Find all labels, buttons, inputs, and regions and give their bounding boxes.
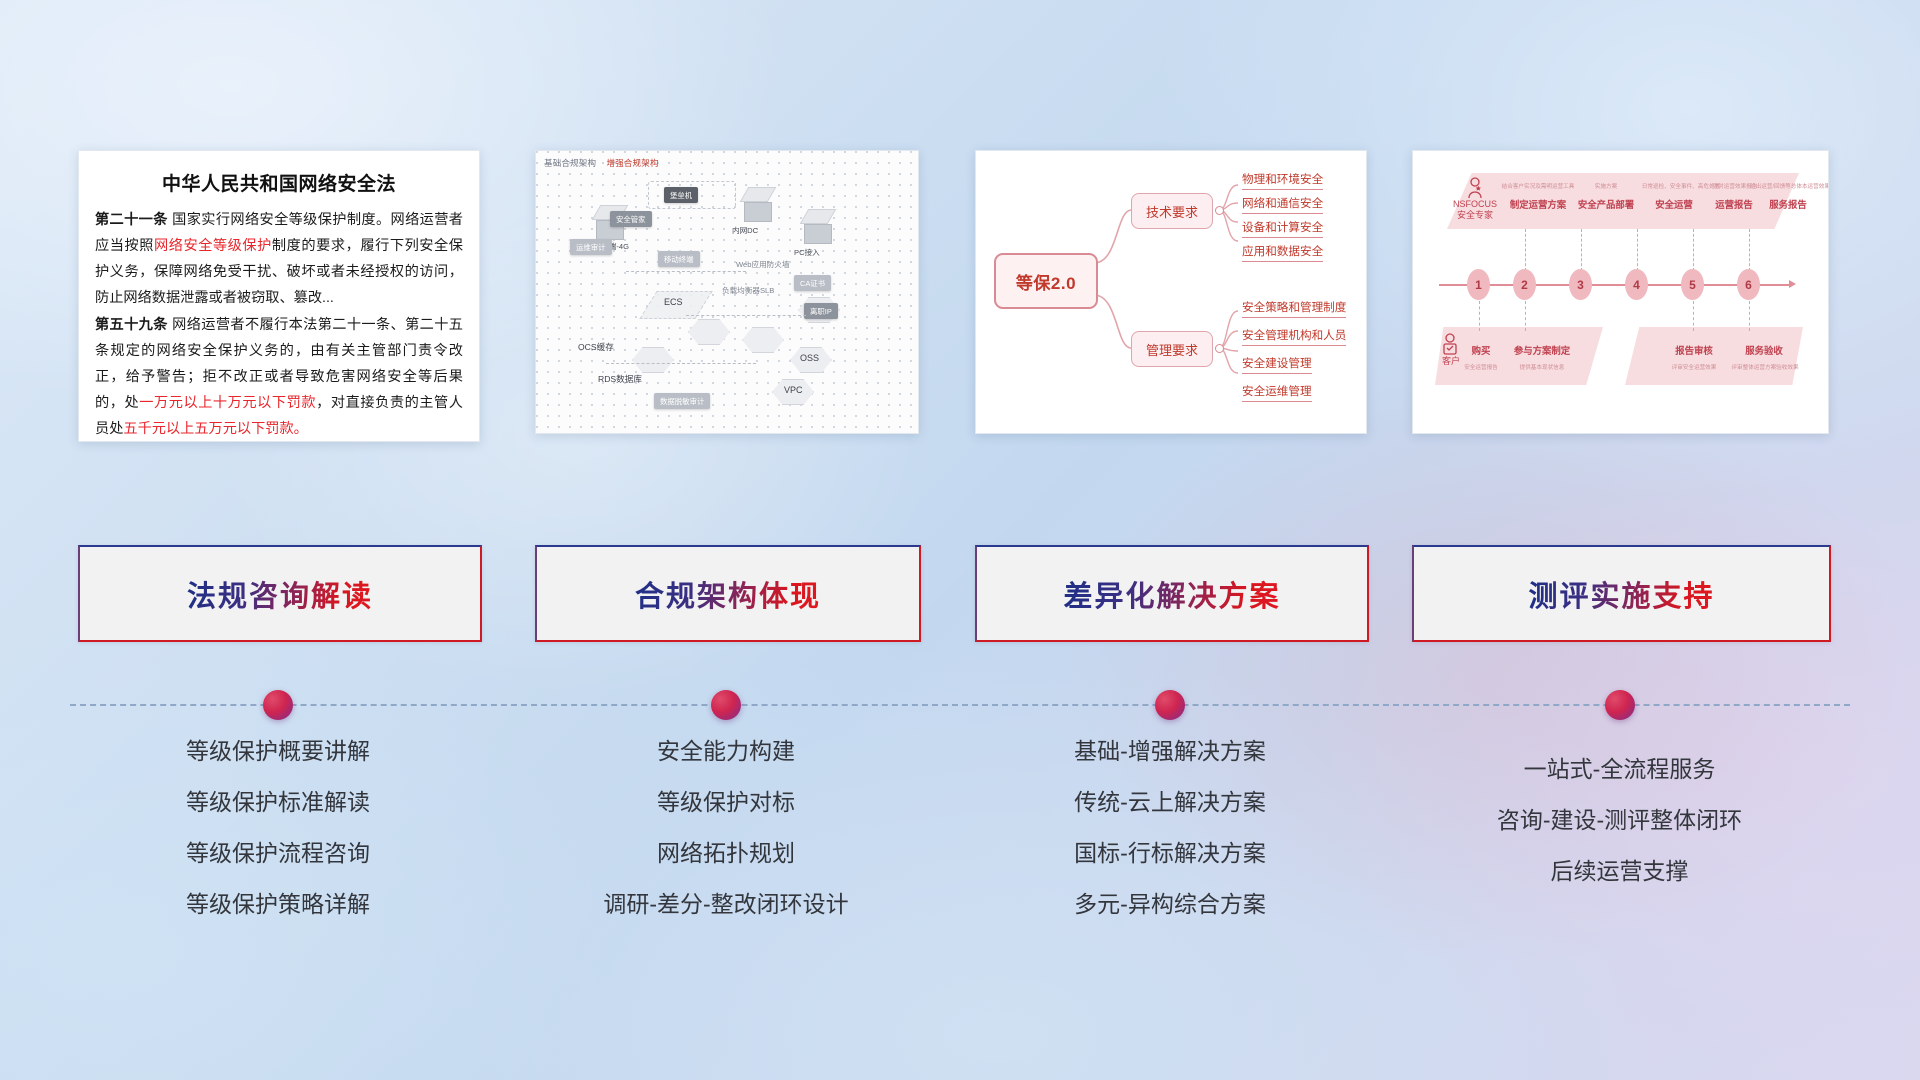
mindmap-branch-management[interactable]: 管理要求 [1131, 331, 1213, 367]
list-item: 基础-增强解决方案 [975, 740, 1365, 763]
list-item: 咨询-建设-测评整体闭环 [1412, 809, 1827, 832]
list-item: 安全能力构建 [535, 740, 917, 763]
mindmap-leaf-t1: 物理和环境安全 [1242, 171, 1323, 190]
list-item: 传统-云上解决方案 [975, 791, 1365, 814]
arch-label-intranet-dc: 内网DC [732, 225, 758, 236]
nsfocus-top-label-6: 服务报告 [1755, 197, 1821, 211]
card-mindmap[interactable]: 等保2.0 技术要求 物理和环境安全 网络和通信安全 设备和计算安全 应用和数据… [975, 150, 1367, 434]
article-59-highlight-2: 五千元以上五万元以下罚款。 [123, 421, 307, 437]
nsfocus-top-label-4: 安全运营 [1641, 197, 1707, 211]
label-button-compliance-architecture[interactable]: 合规架构体现 [535, 545, 921, 642]
customer-person-icon [1441, 333, 1459, 355]
nsfocus-stem-2-bottom [1525, 301, 1526, 331]
nsfocus-bottom-sub-1: 安全运营报告 [1453, 363, 1509, 371]
arch-hex-a [688, 319, 730, 345]
arch-chip-bastion: 堡垒机 [664, 187, 698, 203]
law-body: 中华人民共和国网络安全法 第二十一条 国家实行网络安全等级保护制度。网络运营者应… [79, 151, 479, 441]
nsfocus-top-sub-2: 结合客户实况及需明运营工具 [1489, 182, 1587, 190]
nsfocus-step-dot-1[interactable]: 1 [1467, 269, 1490, 300]
lists-row: 等级保护概要讲解 等级保护标准解读 等级保护流程咨询 等级保护策略详解 安全能力… [0, 740, 1920, 990]
article-21-highlight: 网络安全等级保护 [154, 238, 272, 254]
arch-label-slb: 负载均衡器SLB [722, 285, 774, 296]
timeline-dot-1[interactable] [263, 690, 293, 720]
timeline-dashed-line [70, 704, 1850, 706]
list-item: 等级保护策略详解 [78, 893, 478, 916]
list-column-1: 等级保护概要讲解 等级保护标准解读 等级保护流程咨询 等级保护策略详解 [78, 740, 478, 944]
law-article-59: 第五十九条 网络运营者不履行本法第二十一条、第二十五条规定的网络安全保护义务的，… [95, 313, 463, 442]
arch-label-waf: Web应用防火墙 [736, 259, 789, 270]
nsfocus-step-dot-5[interactable]: 5 [1681, 269, 1704, 300]
arch-chip-ops-audit: 运维审计 [570, 239, 612, 255]
card-architecture-diagram[interactable]: 基础合规架构 增强合规架构 堡垒机 移动终端-4G 安全管家 运维审计 内网DC… [535, 150, 919, 434]
list-item: 多元-异构综合方案 [975, 893, 1365, 916]
nsfocus-axis-arrow [1789, 280, 1796, 288]
arch-hex-rds [632, 347, 674, 373]
card-law-text[interactable]: 中华人民共和国网络安全法 第二十一条 国家实行网络安全等级保护制度。网络运营者应… [78, 150, 480, 442]
arch-chip-leaving-ip: 离职IP [804, 303, 838, 319]
arch-chip-security-manager: 安全管家 [610, 211, 652, 227]
infographic-root: 中华人民共和国网络安全法 第二十一条 国家实行网络安全等级保护制度。网络运营者应… [0, 0, 1920, 1080]
nsfocus-stem-3 [1581, 229, 1582, 271]
arch-label-ocs: OCS缓存 [578, 341, 614, 353]
architecture-tabs: 基础合规架构 增强合规架构 [544, 157, 659, 169]
arch-chip-ca: CA证书 [794, 275, 831, 291]
mindmap-leaf-t4: 应用和数据安全 [1242, 243, 1323, 262]
nsfocus-bottom-sub-2: 提供基本现状信息 [1503, 363, 1581, 371]
nsfocus-stem-6-bottom [1749, 301, 1750, 331]
arch-chip-mobile: 移动终端 [658, 251, 700, 267]
list-item: 网络拓扑规划 [535, 842, 917, 865]
timeline-dot-3[interactable] [1155, 690, 1185, 720]
timeline-dot-4[interactable] [1605, 690, 1635, 720]
list-item: 国标-行标解决方案 [975, 842, 1365, 865]
arch-label-ecs: ECS [664, 297, 683, 307]
mindmap-canvas: 等保2.0 技术要求 物理和环境安全 网络和通信安全 设备和计算安全 应用和数据… [976, 151, 1366, 433]
label-button-differentiated-solutions[interactable]: 差异化解决方案 [975, 545, 1369, 642]
label-text-1: 法规咨询解读 [187, 573, 373, 615]
article-21-label: 第二十一条 [95, 212, 168, 228]
nsfocus-top-sub-6: 给出运营/回馈等总体本运营效果 [1743, 182, 1829, 190]
nsfocus-step-dot-4[interactable]: 4 [1625, 269, 1648, 300]
list-item: 等级保护标准解读 [78, 791, 478, 814]
nsfocus-stem-5-bottom [1693, 301, 1694, 331]
arch-node-pc [804, 209, 832, 244]
nsfocus-stem-6 [1749, 229, 1750, 271]
article-59-highlight-1: 一万元以上十万元以下罚款 [139, 395, 316, 411]
list-item: 后续运营支撑 [1412, 860, 1827, 883]
tab-enhanced-compliance[interactable]: 增强合规架构 [606, 158, 658, 168]
timeline-dot-2[interactable] [711, 690, 741, 720]
mindmap-root-node[interactable]: 等保2.0 [994, 253, 1098, 309]
architecture-canvas: 基础合规架构 增强合规架构 堡垒机 移动终端-4G 安全管家 运维审计 内网DC… [536, 151, 918, 433]
arch-hex-b [742, 327, 784, 353]
arch-label-rds: RDS数据库 [598, 373, 642, 385]
mindmap-leaf-t2: 网络和通信安全 [1242, 195, 1323, 214]
nsfocus-canvas: NSFOCUS 安全专家 客户 结合客户实况及需明运营工具 制定运营方案 实施方… [1413, 151, 1828, 433]
nsfocus-bottom-label-4: 服务验收 [1731, 343, 1797, 357]
label-button-regulation-consulting[interactable]: 法规咨询解读 [78, 545, 482, 642]
card-nsfocus-flow[interactable]: NSFOCUS 安全专家 客户 结合客户实况及需明运营工具 制定运营方案 实施方… [1412, 150, 1829, 434]
mindmap-nub-management[interactable] [1215, 344, 1224, 353]
list-item: 等级保护流程咨询 [78, 842, 478, 865]
arch-chip-data-mask: 数据脱敏审计 [654, 393, 710, 409]
nsfocus-stem-5 [1693, 229, 1694, 271]
nsfocus-bottom-label-1: 购买 [1461, 343, 1501, 357]
nsfocus-top-label-3: 安全产品部署 [1569, 197, 1643, 211]
nsfocus-bottom-label-3: 报告审核 [1661, 343, 1727, 357]
nsfocus-step-dot-2[interactable]: 2 [1513, 269, 1536, 300]
nsfocus-bottom-sub-4: 评审整体运营方案验收效果 [1719, 363, 1811, 371]
list-column-2: 安全能力构建 等级保护对标 网络拓扑规划 调研-差分-整改闭环设计 [535, 740, 917, 944]
label-text-3: 差异化解决方案 [1063, 573, 1280, 615]
list-item: 等级保护概要讲解 [78, 740, 478, 763]
cards-row: 中华人民共和国网络安全法 第二十一条 国家实行网络安全等级保护制度。网络运营者应… [0, 150, 1920, 440]
mindmap-leaf-t3: 设备和计算安全 [1242, 219, 1323, 238]
nsfocus-stem-2 [1525, 229, 1526, 271]
nsfocus-step-dot-3[interactable]: 3 [1569, 269, 1592, 300]
label-button-assessment-support[interactable]: 测评实施支持 [1412, 545, 1831, 642]
mindmap-leaf-m4: 安全运维管理 [1242, 383, 1312, 402]
label-text-4: 测评实施支持 [1528, 573, 1714, 615]
mindmap-leaf-m2: 安全管理机构和人员 [1242, 327, 1346, 346]
list-item: 一站式-全流程服务 [1412, 758, 1827, 781]
article-59-label: 第五十九条 [95, 317, 168, 333]
nsfocus-step-dot-6[interactable]: 6 [1737, 269, 1760, 300]
arch-node-intranet-dc [744, 187, 772, 222]
label-row: 法规咨询解读 合规架构体现 差异化解决方案 测评实施支持 [0, 545, 1920, 650]
mindmap-leaf-m3: 安全建设管理 [1242, 355, 1312, 374]
mindmap-branch-technical[interactable]: 技术要求 [1131, 193, 1213, 229]
list-item: 调研-差分-整改闭环设计 [535, 893, 917, 916]
mindmap-nub-technical[interactable] [1215, 206, 1224, 215]
list-column-4: 一站式-全流程服务 咨询-建设-测评整体闭环 后续运营支撑 [1412, 758, 1827, 911]
nsfocus-stem-1-bottom [1479, 301, 1480, 331]
timeline [0, 690, 1920, 720]
law-title: 中华人民共和国网络安全法 [95, 169, 463, 196]
nsfocus-bottom-label-2: 参与方案制定 [1503, 343, 1581, 357]
label-text-2: 合规架构体现 [635, 573, 821, 615]
arch-label-vpc: VPC [784, 385, 803, 395]
arch-label-oss: OSS [800, 353, 819, 363]
list-column-3: 基础-增强解决方案 传统-云上解决方案 国标-行标解决方案 多元-异构综合方案 [975, 740, 1365, 944]
arch-label-pc: PC接入 [794, 247, 820, 258]
list-item: 等级保护对标 [535, 791, 917, 814]
expert-person-icon [1465, 177, 1485, 199]
law-article-21: 第二十一条 国家实行网络安全等级保护制度。网络运营者应当按照网络安全等级保护制度… [95, 208, 463, 311]
tab-basic-compliance[interactable]: 基础合规架构 [544, 158, 596, 168]
nsfocus-stem-4 [1637, 229, 1638, 271]
mindmap-leaf-m1: 安全策略和管理制度 [1242, 299, 1346, 318]
